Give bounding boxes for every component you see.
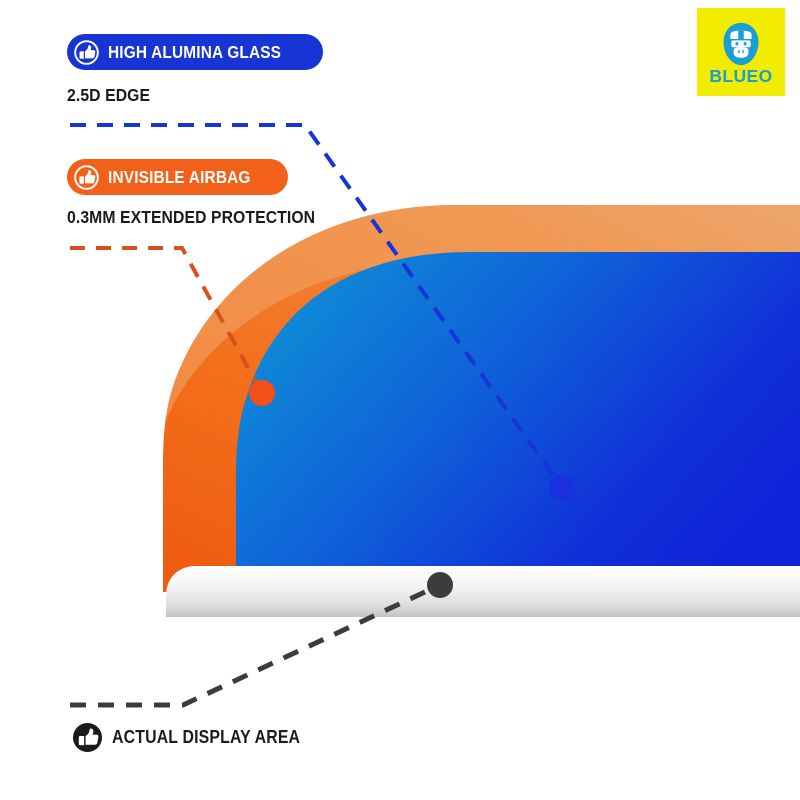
legend-actual-display-area[interactable]: ACTUAL DISPLAY AREA <box>72 722 326 753</box>
airbag-edge-highlight <box>165 205 800 423</box>
display-area-layer <box>236 252 800 566</box>
product-illustration <box>0 0 800 800</box>
display-callout-dot <box>427 572 453 598</box>
legend-label: ACTUAL DISPLAY AREA <box>112 727 300 748</box>
gorilla-face-icon <box>718 21 764 67</box>
feature-badge-label: HIGH ALUMINA GLASS <box>108 42 281 63</box>
caption-2-5d-edge: 2.5D EDGE <box>67 85 150 106</box>
brand-wordmark: BLUEO <box>709 68 772 86</box>
airbag-edge-layer <box>163 205 800 592</box>
infographic-canvas: BLUEO HIGH ALUMINA GLASS 2.5D EDGE INVIS… <box>0 0 800 800</box>
thumbs-up-icon <box>74 165 99 190</box>
feature-badge-label: INVISIBLE AIRBAG <box>108 167 251 188</box>
feature-badge-high-alumina-glass[interactable]: HIGH ALUMINA GLASS <box>67 34 323 70</box>
display-leader-line <box>70 585 440 705</box>
airbag-leader-line <box>70 248 262 393</box>
thumbs-up-icon <box>74 40 99 65</box>
thumbs-up-icon <box>72 722 103 753</box>
feature-badge-invisible-airbag[interactable]: INVISIBLE AIRBAG <box>67 159 288 195</box>
caption-extended-protection: 0.3MM EXTENDED PROTECTION <box>67 207 315 228</box>
glass-callout-dot <box>549 475 575 501</box>
airbag-callout-dot <box>249 380 275 406</box>
brand-logo: BLUEO <box>697 8 785 96</box>
bezel-strip <box>166 566 800 617</box>
